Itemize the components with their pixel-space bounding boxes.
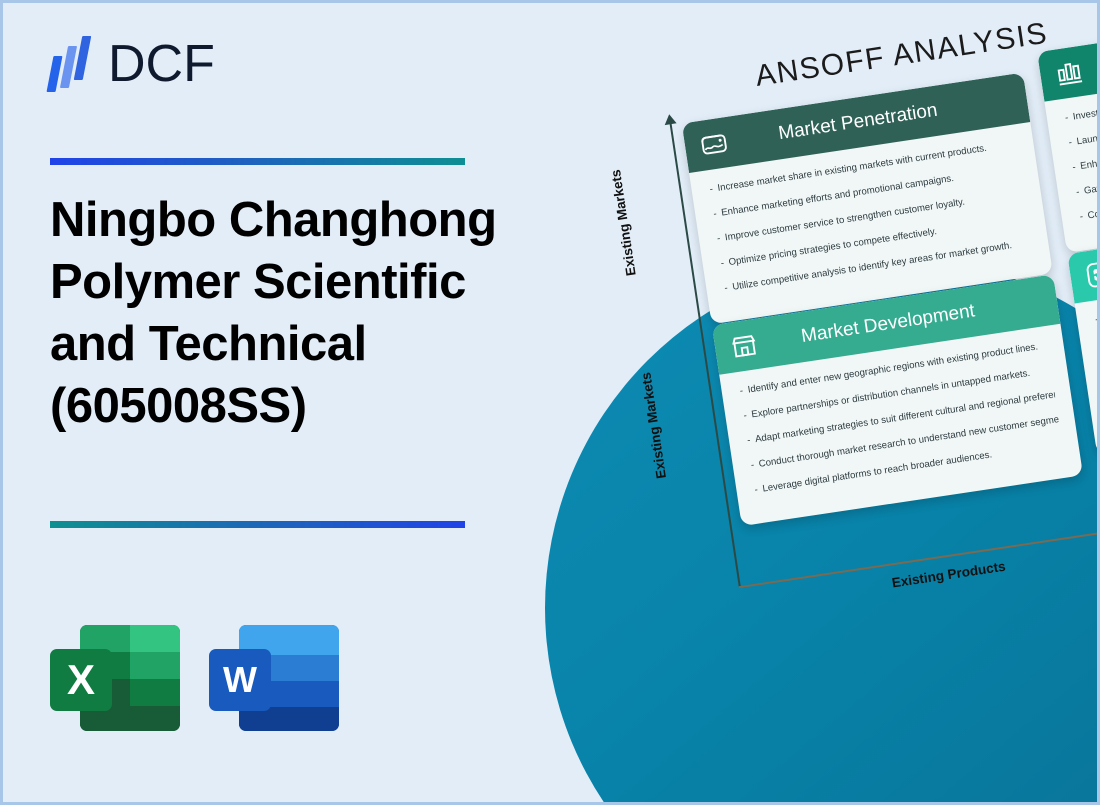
word-letter: W (209, 649, 271, 711)
left-panel: DCF Ningbo Changhong Polymer Scientific … (3, 3, 563, 805)
divider-bottom (50, 521, 465, 528)
expand-arrows-icon (1083, 257, 1100, 291)
ansoff-matrix: ANSOFF ANALYSIS Existing Markets Existin… (554, 3, 1100, 638)
excel-file-icon[interactable]: X (50, 623, 182, 733)
slide-canvas: DCF Ningbo Changhong Polymer Scientific … (0, 0, 1100, 805)
axis-label-markets-top: Existing Markets (608, 169, 639, 277)
dcf-bars-logo (48, 36, 94, 92)
quadrant-header: Product Development (1037, 3, 1100, 102)
page-title: Ningbo Changhong Polymer Scientific and … (50, 189, 550, 437)
divider-top (50, 158, 465, 165)
wallet-icon (697, 127, 731, 161)
brand-logo[interactable]: DCF (48, 36, 215, 92)
quadrant-title: Product Development (1083, 17, 1100, 81)
word-file-icon[interactable]: W (209, 623, 341, 733)
axis-label-markets-bottom: Existing Markets (638, 371, 669, 479)
ansoff-matrix-graphic: ANSOFF ANALYSIS Existing Markets Existin… (503, 3, 1100, 805)
bar-chart-icon (1052, 56, 1086, 90)
excel-letter: X (50, 649, 112, 711)
storefront-icon (727, 329, 761, 363)
brand-name: DCF (108, 38, 215, 90)
download-icons: X W (50, 623, 341, 733)
